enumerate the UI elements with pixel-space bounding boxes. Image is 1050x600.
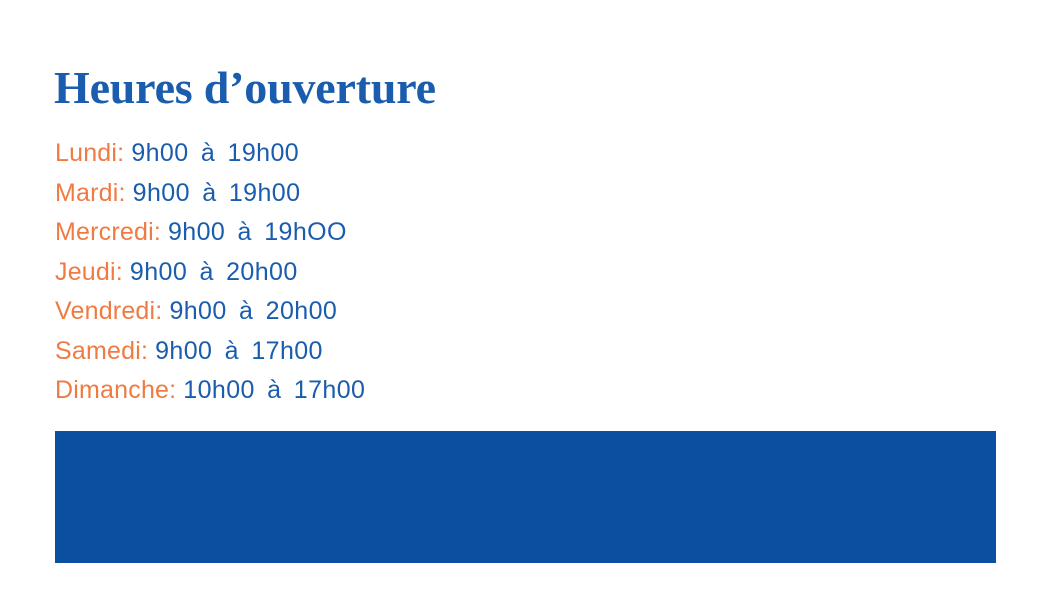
time-value: 9h00 à 19h00 bbox=[131, 139, 299, 167]
list-item: Mercredi:9h00 à 19hOO bbox=[55, 213, 755, 253]
time-value: 9h00 à 20h00 bbox=[169, 297, 337, 325]
list-item: Vendredi:9h00 à 20h00 bbox=[55, 292, 755, 332]
time-value: 10h00 à 17h00 bbox=[183, 376, 365, 404]
time-value: 9h00 à 17h00 bbox=[155, 337, 323, 365]
day-label: Mardi: bbox=[55, 179, 126, 207]
day-label: Lundi: bbox=[55, 139, 124, 167]
opening-hours-list: Lundi:9h00 à 19h00 Mardi:9h00 à 19h00 Me… bbox=[55, 134, 755, 411]
time-value: 9h00 à 19h00 bbox=[133, 179, 301, 207]
list-item: Mardi:9h00 à 19h00 bbox=[55, 174, 755, 214]
time-value: 9h00 à 20h00 bbox=[130, 258, 298, 286]
list-item: Dimanche:10h00 à 17h00 bbox=[55, 371, 755, 411]
list-item: Jeudi:9h00 à 20h00 bbox=[55, 253, 755, 293]
page-title: Heures d’ouverture bbox=[54, 62, 436, 114]
time-value: 9h00 à 19hOO bbox=[168, 218, 347, 246]
slide-canvas: Heures d’ouverture Lundi:9h00 à 19h00 Ma… bbox=[0, 0, 1050, 600]
list-item: Lundi:9h00 à 19h00 bbox=[55, 134, 755, 174]
day-label: Mercredi: bbox=[55, 218, 161, 246]
list-item: Samedi:9h00 à 17h00 bbox=[55, 332, 755, 372]
day-label: Jeudi: bbox=[55, 258, 123, 286]
day-label: Vendredi: bbox=[55, 297, 162, 325]
day-label: Dimanche: bbox=[55, 376, 176, 404]
day-label: Samedi: bbox=[55, 337, 148, 365]
footer-banner bbox=[55, 431, 996, 563]
